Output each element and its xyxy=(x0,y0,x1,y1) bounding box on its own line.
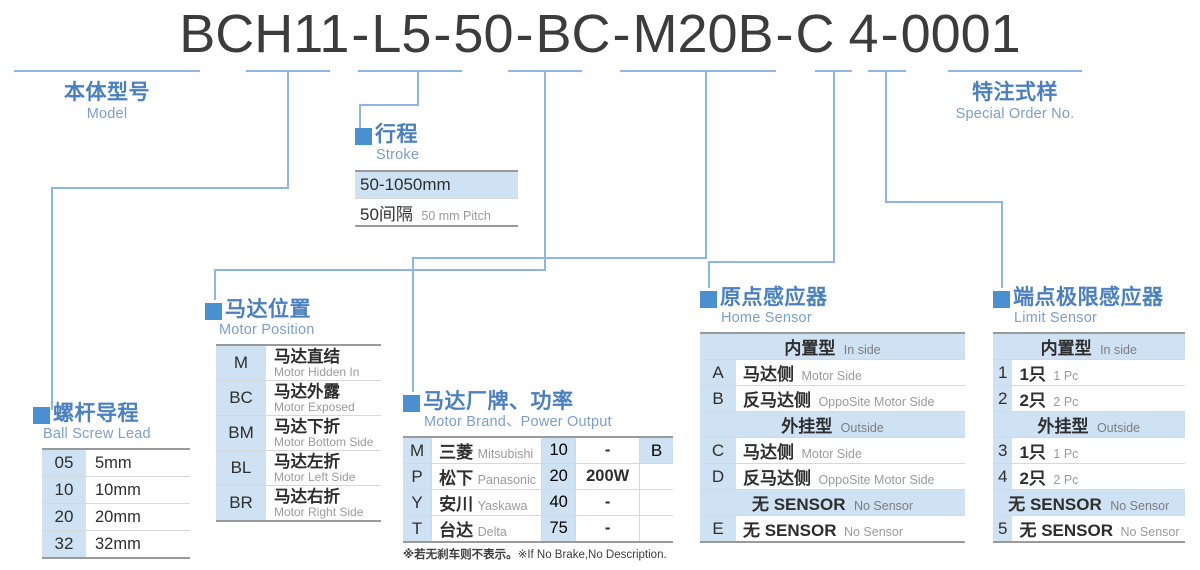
motor-brand-table: M 三菱 Mitsubishi 10 - B P 松下 Panasonic 20 xyxy=(403,436,673,543)
motor-brand-name: 三菱 Mitsubishi xyxy=(432,437,542,464)
home-sensor-en: Motor Side xyxy=(801,369,861,383)
limit-sensor-label: 2只 2 Pc xyxy=(1012,464,1184,490)
home-sensor-header-en: No Sensor xyxy=(854,499,913,513)
ball-screw-lead-body: 05 5mm 10 10mm 20 20mm 32 32mm xyxy=(42,449,190,558)
limit-sensor-header-en: Outside xyxy=(1097,421,1140,435)
motor-brake-code xyxy=(640,464,673,490)
table-row: M 三菱 Mitsubishi 10 - B xyxy=(403,437,673,464)
group-special-order: 特注式样 Special Order No. xyxy=(948,80,1082,123)
code-segment-motor-position: BC xyxy=(535,5,610,63)
group-motor-brand-heading: 马达厂牌、功率 xyxy=(403,390,673,414)
group-limit-sensor-cn: 端点极限感应器 xyxy=(1013,286,1164,310)
motor-power-value: - xyxy=(576,490,640,516)
motor-position-cn: 马达直结 xyxy=(274,348,376,366)
group-motor-position: 马达位置 Motor Position M 马达直结 Motor Hidden … xyxy=(205,298,381,522)
group-home-sensor-heading: 原点感应器 xyxy=(700,286,965,310)
group-stroke: 行程 Stroke 50-1050mm 50间隔 50 mm Pitch xyxy=(355,123,518,227)
table-row: A 马达侧 Motor Side xyxy=(700,360,965,386)
home-sensor-cn: 无 SENSOR xyxy=(743,521,837,540)
home-sensor-en: OppoSite Motor Side xyxy=(818,473,934,487)
lead-value: 32mm xyxy=(86,531,190,559)
home-sensor-section-header: 内置型 In side xyxy=(700,333,965,360)
motor-position-label: 马达外露 Motor Exposed xyxy=(266,381,381,416)
motor-brand-cn: 三菱 xyxy=(439,443,473,462)
lead-value: 5mm xyxy=(86,449,190,477)
bullet-square-icon xyxy=(993,291,1010,308)
motor-brand-code: P xyxy=(403,464,432,490)
bullet-square-icon xyxy=(355,128,372,145)
home-sensor-label: 无 SENSOR No Sensor xyxy=(736,516,965,543)
table-row: 20 20mm xyxy=(42,504,190,531)
code-dash: - xyxy=(879,3,901,65)
limit-sensor-label: 1只 1 Pc xyxy=(1012,438,1184,464)
group-home-sensor-en: Home Sensor xyxy=(721,310,965,327)
group-model: 本体型号 Model xyxy=(14,80,200,123)
motor-position-label: 马达左折 Motor Left Side xyxy=(266,451,381,486)
stroke-table: 50-1050mm 50间隔 50 mm Pitch xyxy=(355,170,518,227)
group-limit-sensor-heading: 端点极限感应器 xyxy=(993,286,1185,310)
table-row: 内置型 In side xyxy=(993,333,1185,360)
home-sensor-section-header: 无 SENSOR No Sensor xyxy=(700,490,965,516)
lead-code: 20 xyxy=(42,504,86,531)
home-sensor-header-cn: 外挂型 xyxy=(781,417,832,436)
ball-screw-lead-table: 05 5mm 10 10mm 20 20mm 32 32mm xyxy=(42,448,190,559)
limit-sensor-label: 无 SENSOR No Sensor xyxy=(1012,516,1184,543)
bullet-square-icon xyxy=(700,291,717,308)
group-ball-screw-lead-heading: 螺杆导程 xyxy=(33,402,190,426)
home-sensor-code: A xyxy=(700,360,736,386)
motor-power-code: 10 xyxy=(542,437,576,464)
table-row: BM 马达下折 Motor Bottom Side xyxy=(216,416,381,451)
group-limit-sensor: 端点极限感应器 Limit Sensor 内置型 In side 1 1只 1 … xyxy=(993,286,1185,543)
limit-sensor-en: 1 Pc xyxy=(1053,447,1078,461)
limit-sensor-code: 1 xyxy=(993,360,1012,386)
group-motor-brand: 马达厂牌、功率 Motor Brand、Power Output M 三菱 Mi… xyxy=(403,390,673,562)
limit-sensor-code: 3 xyxy=(993,438,1012,464)
table-row: 4 2只 2 Pc xyxy=(993,464,1185,490)
home-sensor-cn: 马达侧 xyxy=(743,443,794,462)
home-sensor-header-cn: 无 SENSOR xyxy=(752,495,846,514)
motor-brand-cn: 台达 xyxy=(439,521,473,540)
motor-brand-en: Panasonic xyxy=(478,473,536,487)
motor-brand-name: 安川 Yaskawa xyxy=(432,490,542,516)
lead-code: 10 xyxy=(42,477,86,504)
motor-power-code: 40 xyxy=(542,490,576,516)
table-row: M 马达直结 Motor Hidden In xyxy=(216,345,381,381)
group-model-en: Model xyxy=(14,105,200,123)
motor-brand-cn: 松下 xyxy=(439,469,473,488)
code-segment-special-order: 0001 xyxy=(901,5,1021,63)
motor-position-en: Motor Right Side xyxy=(274,506,376,519)
home-sensor-header-en: In side xyxy=(844,343,881,357)
motor-position-cn: 马达外露 xyxy=(274,383,376,401)
code-dash: - xyxy=(610,3,632,65)
motor-position-en: Motor Exposed xyxy=(274,401,376,414)
table-row: T 台达 Delta 75 - xyxy=(403,516,673,543)
home-sensor-label: 反马达侧 OppoSite Motor Side xyxy=(736,464,965,490)
product-code-row: BCH11 - L5 - 50 - BC - M20B - C 4 - 0001 xyxy=(0,4,1200,64)
motor-brand-note-en: ※If No Brake,No Description. xyxy=(518,549,667,561)
table-row: 50-1050mm xyxy=(355,171,518,199)
stroke-pitch-cn: 50间隔 xyxy=(360,205,413,224)
motor-brand-en: Delta xyxy=(478,525,507,539)
stroke-pitch-en: 50 mm Pitch xyxy=(421,209,490,223)
limit-sensor-header-en: In side xyxy=(1100,343,1137,357)
limit-sensor-code: 5 xyxy=(993,516,1012,543)
limit-sensor-header-cn: 外挂型 xyxy=(1037,417,1088,436)
limit-sensor-en: 2 Pc xyxy=(1053,473,1078,487)
group-special-order-en: Special Order No. xyxy=(948,105,1082,123)
code-segment-home-sensor: C xyxy=(796,5,835,63)
code-segment-lead: L5 xyxy=(371,5,431,63)
group-motor-position-en: Motor Position xyxy=(219,322,381,339)
table-row: 50间隔 50 mm Pitch xyxy=(355,199,518,227)
group-motor-position-cn: 马达位置 xyxy=(225,298,311,322)
home-sensor-cn: 反马达侧 xyxy=(743,469,811,488)
lead-code: 05 xyxy=(42,449,86,477)
limit-sensor-cn: 1只 xyxy=(1019,443,1045,462)
table-row: 2 2只 2 Pc xyxy=(993,386,1185,412)
motor-position-label: 马达直结 Motor Hidden In xyxy=(266,345,381,381)
code-segment-stroke: 50 xyxy=(453,5,513,63)
group-stroke-heading: 行程 xyxy=(355,123,518,147)
motor-brand-name: 台达 Delta xyxy=(432,516,542,543)
home-sensor-cn: 反马达侧 xyxy=(743,391,811,410)
limit-sensor-header-cn: 无 SENSOR xyxy=(1008,495,1102,514)
table-row: Y 安川 Yaskawa 40 - xyxy=(403,490,673,516)
code-segment-limit-sensor: 4 xyxy=(835,5,879,63)
motor-position-en: Motor Hidden In xyxy=(274,366,376,379)
home-sensor-code: C xyxy=(700,438,736,464)
motor-position-code: BR xyxy=(216,486,266,522)
table-row: 10 10mm xyxy=(42,477,190,504)
table-row: BR 马达右折 Motor Right Side xyxy=(216,486,381,522)
lead-code: 32 xyxy=(42,531,86,559)
motor-brand-code: T xyxy=(403,516,432,543)
motor-power-code: 20 xyxy=(542,464,576,490)
motor-brand-name: 松下 Panasonic xyxy=(432,464,542,490)
table-row: C 马达侧 Motor Side xyxy=(700,438,965,464)
home-sensor-header-en: Outside xyxy=(841,421,884,435)
limit-sensor-section-header: 内置型 In side xyxy=(993,333,1185,360)
motor-position-code: BM xyxy=(216,416,266,451)
limit-sensor-section-header: 外挂型 Outside xyxy=(993,412,1185,438)
lead-value: 10mm xyxy=(86,477,190,504)
group-home-sensor-cn: 原点感应器 xyxy=(720,286,828,310)
home-sensor-en: Motor Side xyxy=(801,447,861,461)
motor-brand-code: Y xyxy=(403,490,432,516)
motor-brand-cn: 安川 xyxy=(439,495,473,514)
motor-position-cn: 马达右折 xyxy=(274,488,376,506)
table-row: 外挂型 Outside xyxy=(993,412,1185,438)
limit-sensor-en: 2 Pc xyxy=(1053,395,1078,409)
stroke-range-cell: 50-1050mm xyxy=(355,171,518,199)
home-sensor-cn: 马达侧 xyxy=(743,365,794,384)
table-row: 外挂型 Outside xyxy=(700,412,965,438)
motor-position-code: BC xyxy=(216,381,266,416)
lead-value: 20mm xyxy=(86,504,190,531)
motor-position-label: 马达下折 Motor Bottom Side xyxy=(266,416,381,451)
group-home-sensor: 原点感应器 Home Sensor 内置型 In side A 马达侧 Moto… xyxy=(700,286,965,543)
motor-brand-en: Yaskawa xyxy=(478,499,528,513)
code-dash: - xyxy=(431,3,453,65)
motor-power-value: - xyxy=(576,437,640,464)
motor-brand-code: M xyxy=(403,437,432,464)
motor-brake-code xyxy=(640,516,673,543)
code-dash: - xyxy=(513,3,535,65)
stroke-pitch-cell: 50间隔 50 mm Pitch xyxy=(355,199,518,227)
home-sensor-en: OppoSite Motor Side xyxy=(818,395,934,409)
home-sensor-header-cn: 内置型 xyxy=(784,339,835,358)
table-row: 无 SENSOR No Sensor xyxy=(700,490,965,516)
table-row: 5 无 SENSOR No Sensor xyxy=(993,516,1185,543)
group-ball-screw-lead-cn: 螺杆导程 xyxy=(53,402,139,426)
motor-brake-code xyxy=(640,490,673,516)
motor-position-en: Motor Left Side xyxy=(274,471,376,484)
stroke-range: 50-1050mm xyxy=(360,175,451,194)
group-ball-screw-lead-en: Ball Screw Lead xyxy=(43,426,190,443)
group-stroke-en: Stroke xyxy=(376,147,518,164)
home-sensor-code: B xyxy=(700,386,736,412)
limit-sensor-code: 2 xyxy=(993,386,1012,412)
group-motor-brand-cn: 马达厂牌、功率 xyxy=(423,390,574,414)
motor-position-en: Motor Bottom Side xyxy=(274,436,376,449)
home-sensor-label: 马达侧 Motor Side xyxy=(736,438,965,464)
bullet-square-icon xyxy=(403,395,420,412)
limit-sensor-cn: 2只 xyxy=(1019,391,1045,410)
group-motor-brand-en: Motor Brand、Power Output xyxy=(424,414,673,431)
limit-sensor-label: 1只 1 Pc xyxy=(1012,360,1184,386)
group-stroke-cn: 行程 xyxy=(375,123,418,147)
table-row: 1 1只 1 Pc xyxy=(993,360,1185,386)
table-row: 05 5mm xyxy=(42,449,190,477)
table-row: BC 马达外露 Motor Exposed xyxy=(216,381,381,416)
motor-brand-note: ※若无刹车则不表示。※If No Brake,No Description. xyxy=(403,546,673,562)
home-sensor-code: D xyxy=(700,464,736,490)
group-ball-screw-lead: 螺杆导程 Ball Screw Lead 05 5mm 10 10mm 20 2… xyxy=(33,402,190,559)
motor-brand-body: M 三菱 Mitsubishi 10 - B P 松下 Panasonic 20 xyxy=(403,437,673,542)
limit-sensor-cn: 无 SENSOR xyxy=(1019,521,1113,540)
motor-power-code: 75 xyxy=(542,516,576,543)
table-row: 内置型 In side xyxy=(700,333,965,360)
motor-position-table: M 马达直结 Motor Hidden In BC 马达外露 Motor Exp… xyxy=(216,344,381,522)
code-segment-motor-brand: M20B xyxy=(632,5,773,63)
home-sensor-table: 内置型 In side A 马达侧 Motor Side B 反马达侧 Oppo xyxy=(700,332,965,543)
bullet-square-icon xyxy=(33,407,50,424)
group-motor-position-heading: 马达位置 xyxy=(205,298,381,322)
limit-sensor-body: 内置型 In side 1 1只 1 Pc 2 2只 2 Pc xyxy=(993,333,1185,542)
home-sensor-body: 内置型 In side A 马达侧 Motor Side B 反马达侧 Oppo xyxy=(700,333,965,542)
motor-power-value: - xyxy=(576,516,640,543)
limit-sensor-section-header: 无 SENSOR No Sensor xyxy=(993,490,1185,516)
group-model-cn: 本体型号 xyxy=(14,80,200,105)
bullet-square-icon xyxy=(205,303,222,320)
group-limit-sensor-en: Limit Sensor xyxy=(1014,310,1185,327)
table-row: D 反马达侧 OppoSite Motor Side xyxy=(700,464,965,490)
limit-sensor-table: 内置型 In side 1 1只 1 Pc 2 2只 2 Pc xyxy=(993,332,1185,543)
home-sensor-label: 反马达侧 OppoSite Motor Side xyxy=(736,386,965,412)
home-sensor-section-header: 外挂型 Outside xyxy=(700,412,965,438)
table-row: 无 SENSOR No Sensor xyxy=(993,490,1185,516)
table-row: BL 马达左折 Motor Left Side xyxy=(216,451,381,486)
limit-sensor-cn: 2只 xyxy=(1019,469,1045,488)
product-code-diagram: BCH11 - L5 - 50 - BC - M20B - C 4 - 0001 xyxy=(0,0,1200,570)
motor-position-body: M 马达直结 Motor Hidden In BC 马达外露 Motor Exp… xyxy=(216,345,381,521)
table-row: P 松下 Panasonic 20 200W xyxy=(403,464,673,490)
motor-position-code: BL xyxy=(216,451,266,486)
group-special-order-cn: 特注式样 xyxy=(948,80,1082,105)
motor-position-cn: 马达下折 xyxy=(274,418,376,436)
code-dash: - xyxy=(774,3,796,65)
home-sensor-code: E xyxy=(700,516,736,543)
limit-sensor-code: 4 xyxy=(993,464,1012,490)
table-row: 32 32mm xyxy=(42,531,190,559)
limit-sensor-header-cn: 内置型 xyxy=(1041,339,1092,358)
motor-position-code: M xyxy=(216,345,266,381)
motor-position-label: 马达右折 Motor Right Side xyxy=(266,486,381,522)
code-dash: - xyxy=(349,3,371,65)
limit-sensor-en: No Sensor xyxy=(1120,525,1179,539)
home-sensor-label: 马达侧 Motor Side xyxy=(736,360,965,386)
table-row: B 反马达侧 OppoSite Motor Side xyxy=(700,386,965,412)
code-segment-model: BCH11 xyxy=(179,5,349,63)
motor-position-cn: 马达左折 xyxy=(274,453,376,471)
motor-power-value: 200W xyxy=(576,464,640,490)
motor-brand-note-cn: ※若无刹车则不表示。 xyxy=(403,549,518,561)
table-row: E 无 SENSOR No Sensor xyxy=(700,516,965,543)
table-row: 3 1只 1 Pc xyxy=(993,438,1185,464)
limit-sensor-cn: 1只 xyxy=(1019,365,1045,384)
home-sensor-en: No Sensor xyxy=(844,525,903,539)
motor-brand-en: Mitsubishi xyxy=(478,447,534,461)
limit-sensor-label: 2只 2 Pc xyxy=(1012,386,1184,412)
limit-sensor-header-en: No Sensor xyxy=(1110,499,1169,513)
limit-sensor-en: 1 Pc xyxy=(1053,369,1078,383)
motor-brake-code: B xyxy=(640,437,673,464)
